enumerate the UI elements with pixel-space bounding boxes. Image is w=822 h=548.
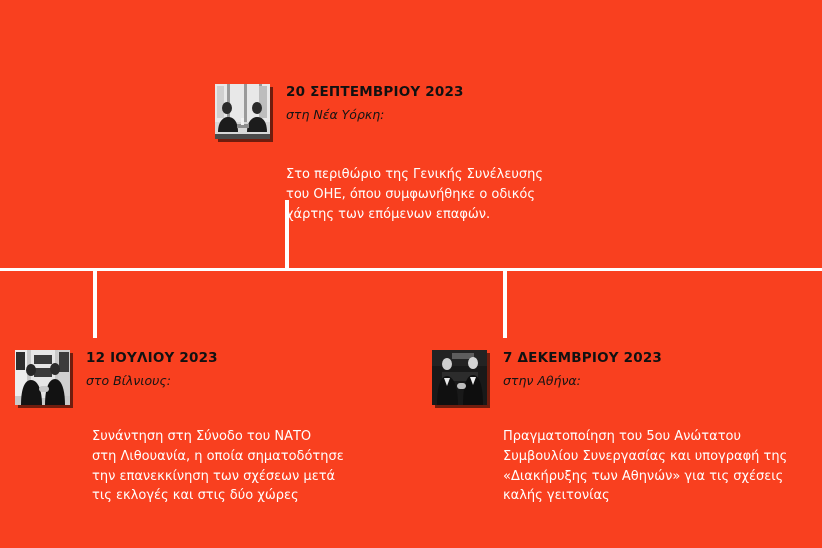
event-place-december: στην Αθήνα: <box>503 373 662 389</box>
timeline-event-december: 7 ΔΕΚΕΜΒΡΙΟΥ 2023 στην Αθήνα: Πραγματοπο… <box>432 350 787 506</box>
timeline-infographic: 20 ΣΕΠΤΕΜΒΡΙΟΥ 2023 στη Νέα Υόρκη: Στο π… <box>0 0 822 548</box>
event-body-december: Πραγματοποίηση του 5ου Ανώτατου Συμβουλί… <box>432 427 787 506</box>
timeline-event-september: 20 ΣΕΠΤΕΜΒΡΙΟΥ 2023 στη Νέα Υόρκη: Στο π… <box>215 84 543 224</box>
event-header-row: 7 ΔΕΚΕΜΒΡΙΟΥ 2023 στην Αθήνα: <box>432 350 787 405</box>
event-place-september: στη Νέα Υόρκη: <box>286 107 464 123</box>
event-place-july: στο Βίλνιους: <box>86 373 218 389</box>
event-thumbnail-july <box>15 350 70 405</box>
event-heading-block: 12 ΙΟΥΛΙΟΥ 2023 στο Βίλνιους: <box>70 350 218 389</box>
event-header-row: 20 ΣΕΠΤΕΜΒΡΙΟΥ 2023 στη Νέα Υόρκη: <box>215 84 543 139</box>
timeline-event-july: 12 ΙΟΥΛΙΟΥ 2023 στο Βίλνιους: Συνάντηση … <box>15 350 344 506</box>
timeline-connector-july <box>93 270 97 338</box>
event-body-july: Συνάντηση στη Σύνοδο του ΝΑΤΟ στη Λιθουα… <box>15 427 344 506</box>
event-heading-block: 20 ΣΕΠΤΕΜΒΡΙΟΥ 2023 στη Νέα Υόρκη: <box>270 84 464 123</box>
event-header-row: 12 ΙΟΥΛΙΟΥ 2023 στο Βίλνιους: <box>15 350 344 405</box>
event-date-december: 7 ΔΕΚΕΜΒΡΙΟΥ 2023 <box>503 350 662 367</box>
timeline-connector-december <box>503 270 507 338</box>
event-heading-block: 7 ΔΕΚΕΜΒΡΙΟΥ 2023 στην Αθήνα: <box>487 350 662 389</box>
event-body-september: Στο περιθώριο της Γενικής Συνέλευσης του… <box>215 165 543 224</box>
timeline-axis-line <box>0 268 822 271</box>
event-date-july: 12 ΙΟΥΛΙΟΥ 2023 <box>86 350 218 367</box>
event-thumbnail-september <box>215 84 270 139</box>
event-thumbnail-december <box>432 350 487 405</box>
event-date-september: 20 ΣΕΠΤΕΜΒΡΙΟΥ 2023 <box>286 84 464 101</box>
